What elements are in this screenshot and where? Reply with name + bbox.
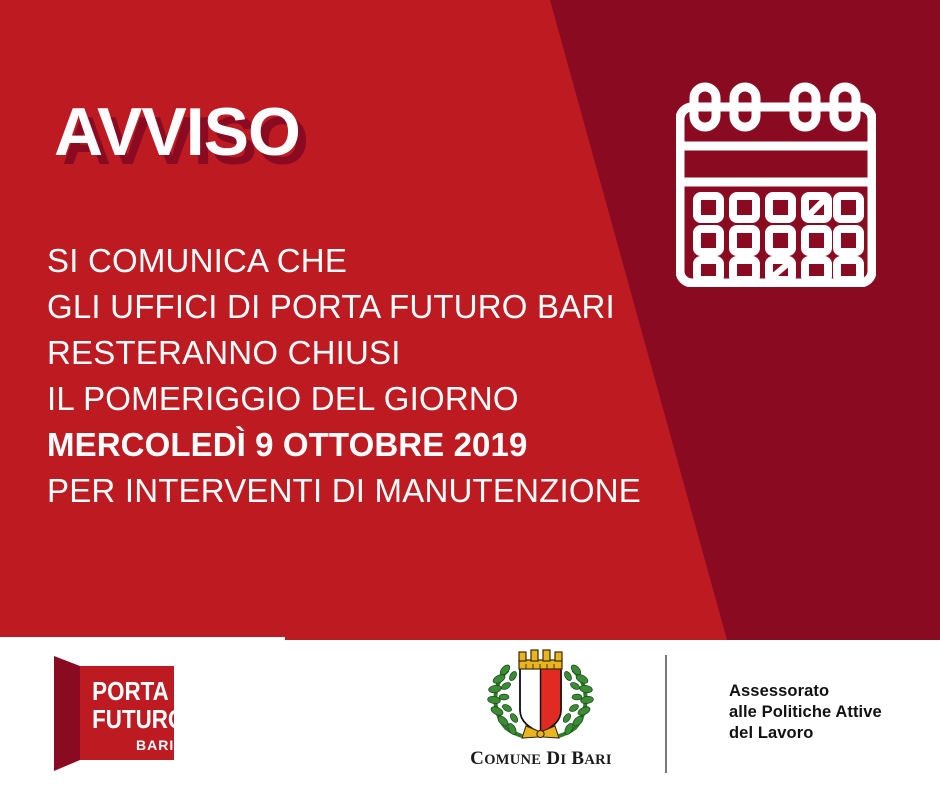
message-line-date: MERCOLEDÌ 9 OTTOBRE 2019 (47, 422, 687, 468)
assessorato-block: Assessorato alle Politiche Attive del La… (729, 681, 882, 744)
calendar-icon (676, 82, 876, 287)
mural-crown (519, 650, 562, 669)
crest-caption-p3: D (541, 748, 560, 769)
assessorato-line-3: del Lavoro (729, 723, 882, 744)
footer-divider (665, 655, 667, 773)
porta-futuro-logo: PORTA FUTURO BARI (44, 650, 184, 775)
crest-caption-p6: ARI (584, 752, 612, 768)
shield (520, 668, 561, 733)
crest-caption-p2: OMUNE (484, 752, 541, 768)
message-line-1: SI COMUNICA CHE (47, 238, 687, 284)
crest-caption-p5: B (566, 748, 584, 769)
crest-caption: COMUNE DI BARI (455, 748, 627, 770)
page-title: AVVISO (54, 98, 300, 166)
assessorato-line-1: Assessorato (729, 681, 882, 702)
poster-root: AVVISO SI COMUNICA CHE GLI UFFICI DI POR… (0, 0, 940, 788)
notice-message: SI COMUNICA CHE GLI UFFICI DI PORTA FUTU… (47, 238, 687, 514)
wreath-right (559, 663, 594, 736)
assessorato-line-2: alle Politiche Attive (729, 702, 882, 723)
crest-caption-p1: C (470, 748, 484, 769)
message-line-4: IL POMERIGGIO DEL GIORNO (47, 376, 687, 422)
pf-line-bari: BARI (136, 737, 174, 753)
message-line-6: PER INTERVENTI DI MANUTENZIONE (47, 468, 687, 514)
pf-line-porta: PORTA (92, 677, 169, 706)
message-line-2: GLI UFFICI DI PORTA FUTURO BARI (47, 284, 687, 330)
message-line-3: RESTERANNO CHIUSI (47, 330, 687, 376)
wreath-left (487, 663, 522, 736)
comune-di-bari-crest (478, 648, 603, 748)
pf-line-futuro: FUTURO (92, 705, 184, 734)
door-flap-shape (54, 656, 80, 771)
